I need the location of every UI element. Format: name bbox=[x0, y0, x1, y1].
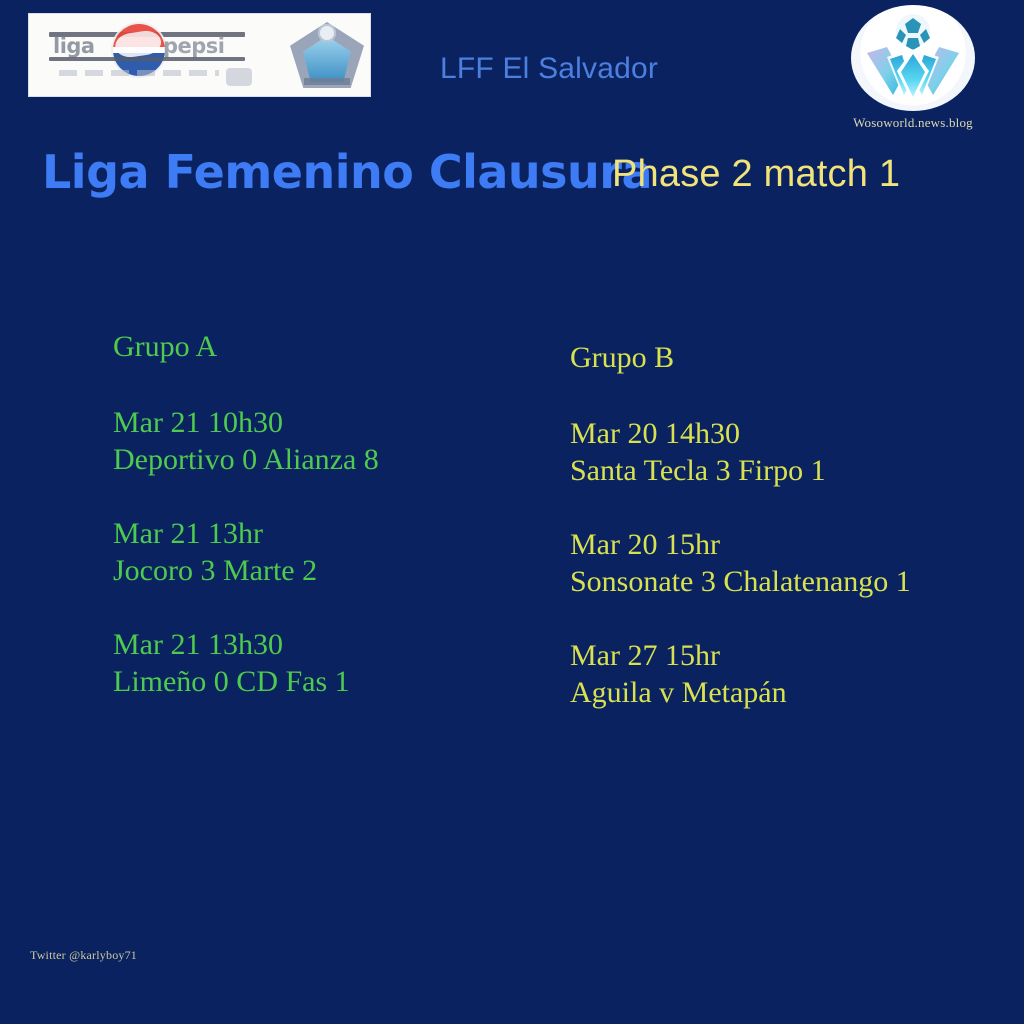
federation-crest-icon bbox=[290, 22, 364, 88]
fixture-time: Mar 20 14h30 bbox=[570, 416, 911, 453]
fixture-teams: Santa Tecla 3 Firpo 1 bbox=[570, 453, 911, 490]
fixture-item: Mar 21 10h30 Deportivo 0 Alianza 8 bbox=[113, 405, 379, 478]
liga-pepsi-logo: liga pepsi bbox=[43, 24, 258, 86]
fixture-item: Mar 21 13h30 Limeño 0 CD Fas 1 bbox=[113, 627, 379, 700]
league-label: LFF El Salvador bbox=[440, 52, 658, 86]
pepsi-globe-icon bbox=[113, 24, 165, 76]
fixture-time: Mar 21 10h30 bbox=[113, 405, 379, 442]
logo-rule-bottom bbox=[49, 57, 245, 61]
fixture-item: Mar 20 15hr Sonsonate 3 Chalatenango 1 bbox=[570, 527, 911, 600]
brand-caption: Wosoworld.news.blog bbox=[848, 115, 978, 131]
poster-canvas: liga pepsi LFF El Salvador bbox=[0, 0, 1024, 1024]
group-b-column: Grupo B Mar 20 14h30 Santa Tecla 3 Firpo… bbox=[570, 341, 911, 712]
fixture-time: Mar 20 15hr bbox=[570, 527, 911, 564]
crest-base-bar bbox=[304, 78, 350, 85]
fixture-time: Mar 21 13hr bbox=[113, 516, 379, 553]
group-a-heading: Grupo A bbox=[113, 330, 379, 363]
group-a-column: Grupo A Mar 21 10h30 Deportivo 0 Alianza… bbox=[113, 330, 379, 701]
fixture-item: Mar 20 14h30 Santa Tecla 3 Firpo 1 bbox=[570, 416, 911, 489]
wosoworld-logo-icon bbox=[851, 5, 975, 111]
pepsi-word-liga: liga bbox=[53, 34, 95, 58]
sponsor-banner: liga pepsi bbox=[28, 13, 371, 97]
fixture-item: Mar 27 15hr Aguila v Metapán bbox=[570, 638, 911, 711]
fixture-time: Mar 21 13h30 bbox=[113, 627, 379, 664]
fixture-teams: Aguila v Metapán bbox=[570, 675, 911, 712]
fixture-teams: Deportivo 0 Alianza 8 bbox=[113, 442, 379, 479]
fixture-time: Mar 27 15hr bbox=[570, 638, 911, 675]
brand-logo-block: Wosoworld.news.blog bbox=[848, 5, 978, 131]
sponsor-sub-badge-icon bbox=[226, 68, 252, 86]
poster-title: Liga Femenino Clausura bbox=[42, 145, 652, 199]
fixture-teams: Limeño 0 CD Fas 1 bbox=[113, 664, 379, 701]
fixture-item: Mar 21 13hr Jocoro 3 Marte 2 bbox=[113, 516, 379, 589]
logo-subtitle-placeholder bbox=[59, 70, 219, 76]
poster-phase-label: Phase 2 match 1 bbox=[612, 153, 900, 196]
fixture-teams: Jocoro 3 Marte 2 bbox=[113, 553, 379, 590]
fixture-teams: Sonsonate 3 Chalatenango 1 bbox=[570, 564, 911, 601]
group-b-heading: Grupo B bbox=[570, 341, 911, 374]
pepsi-word-pepsi: pepsi bbox=[163, 34, 225, 58]
credit-handle: Twitter @karlyboy71 bbox=[30, 948, 137, 963]
crest-ball-icon bbox=[318, 24, 336, 42]
